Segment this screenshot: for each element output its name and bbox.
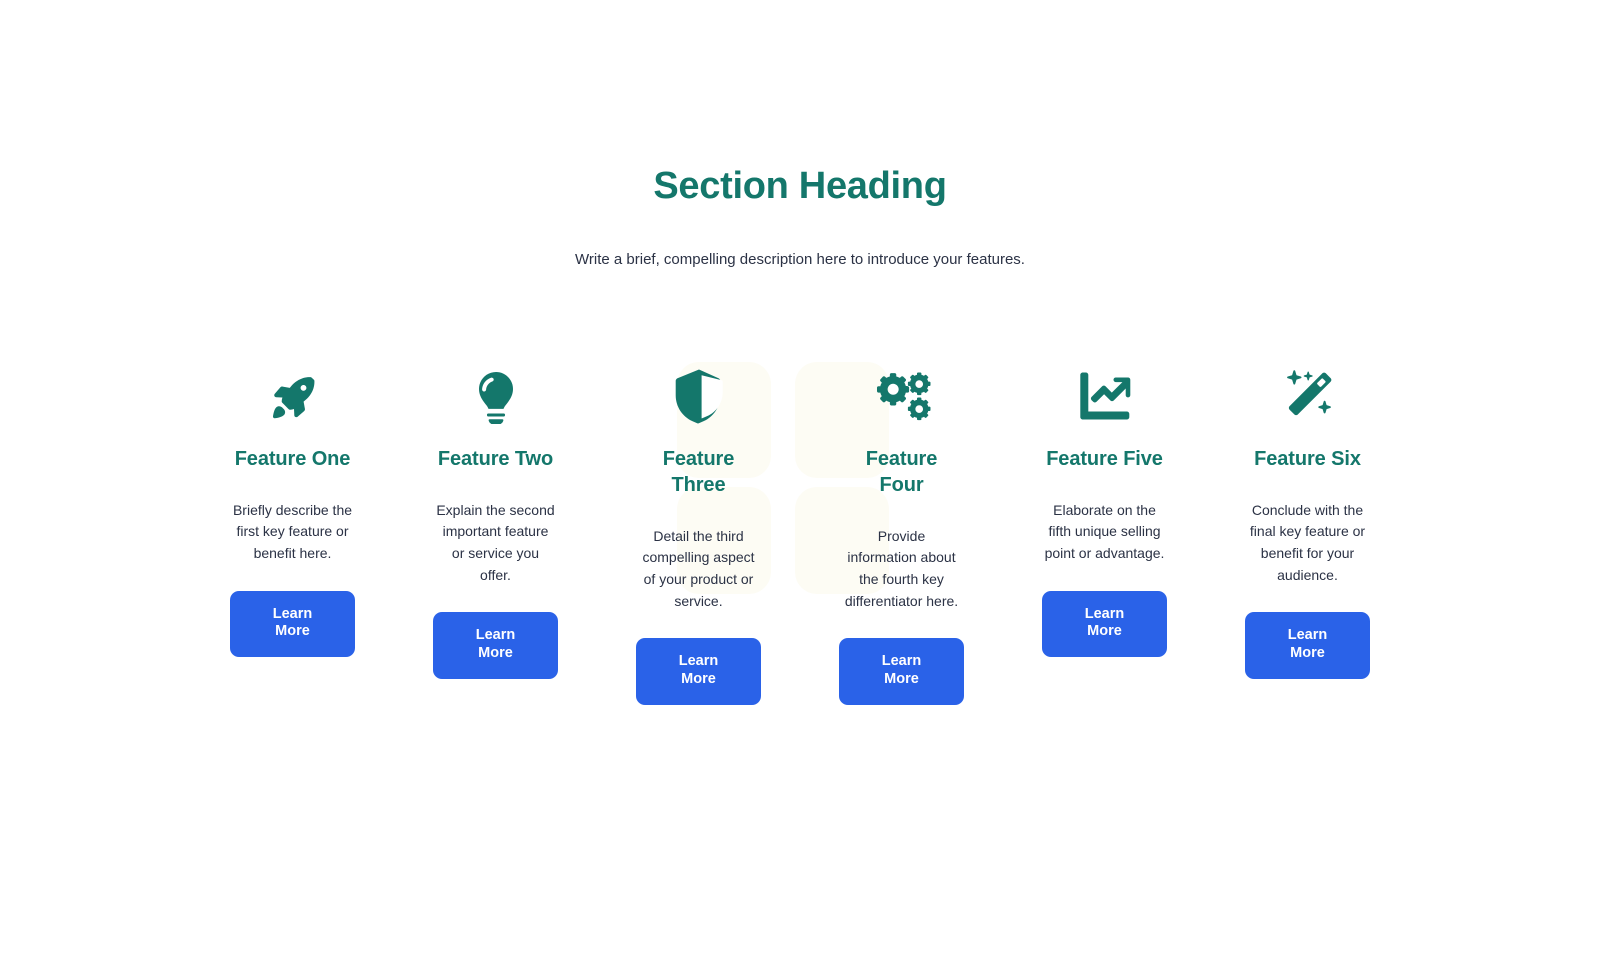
gears-icon <box>873 366 931 426</box>
page-title: Section Heading <box>0 164 1600 210</box>
button-label-line1: Learn <box>839 653 964 671</box>
feature-description: Detail the third compelling aspect of yo… <box>639 526 759 613</box>
feature-title: Feature One <box>235 446 351 472</box>
section-header: Section Heading Write a brief, compellin… <box>0 0 1600 270</box>
feature-card-four: Feature Four Provide information about t… <box>800 366 1003 705</box>
feature-card-three: Feature Three Detail the third compellin… <box>597 366 800 705</box>
feature-card-five: Feature Five Elaborate on the fifth uniq… <box>1003 366 1206 657</box>
feature-grid: Feature One Briefly describe the first k… <box>0 366 1600 705</box>
feature-title: Feature Five <box>1046 446 1163 472</box>
rocket-icon <box>265 366 321 426</box>
learn-more-button[interactable]: Learn More <box>839 638 964 704</box>
button-label-line1: Learn <box>230 606 355 624</box>
learn-more-button[interactable]: Learn More <box>433 612 558 678</box>
learn-more-button[interactable]: Learn More <box>1042 591 1167 657</box>
feature-description: Elaborate on the fifth unique selling po… <box>1045 500 1165 565</box>
button-label-line2: More <box>1245 645 1370 663</box>
button-label-line1: Learn <box>433 627 558 645</box>
feature-description: Briefly describe the first key feature o… <box>233 500 353 565</box>
feature-description: Explain the second important feature or … <box>436 500 556 587</box>
button-label-line1: Learn <box>1042 606 1167 624</box>
feature-description: Provide information about the fourth key… <box>842 526 962 613</box>
magic-wand-icon <box>1279 366 1337 426</box>
feature-title: Feature Three <box>640 446 758 498</box>
learn-more-button[interactable]: Learn More <box>636 638 761 704</box>
feature-card-one: Feature One Briefly describe the first k… <box>191 366 394 657</box>
chart-line-up-icon <box>1077 366 1133 426</box>
feature-card-two: Feature Two Explain the second important… <box>394 366 597 679</box>
feature-title: Feature Four <box>843 446 961 498</box>
button-label-line2: More <box>636 671 761 689</box>
feature-title: Feature Two <box>438 446 553 472</box>
button-label-line2: More <box>1042 623 1167 641</box>
shield-icon <box>672 366 726 426</box>
button-label-line2: More <box>839 671 964 689</box>
lightbulb-icon <box>470 366 522 426</box>
button-label-line2: More <box>230 623 355 641</box>
feature-description: Conclude with the final key feature or b… <box>1248 500 1368 587</box>
feature-title: Feature Six <box>1254 446 1361 472</box>
button-label-line2: More <box>433 645 558 663</box>
features-section: Section Heading Write a brief, compellin… <box>0 0 1600 705</box>
learn-more-button[interactable]: Learn More <box>1245 612 1370 678</box>
section-subheading: Write a brief, compelling description he… <box>0 249 1600 270</box>
button-label-line1: Learn <box>636 653 761 671</box>
feature-card-six: Feature Six Conclude with the final key … <box>1206 366 1409 679</box>
button-label-line1: Learn <box>1245 627 1370 645</box>
learn-more-button[interactable]: Learn More <box>230 591 355 657</box>
